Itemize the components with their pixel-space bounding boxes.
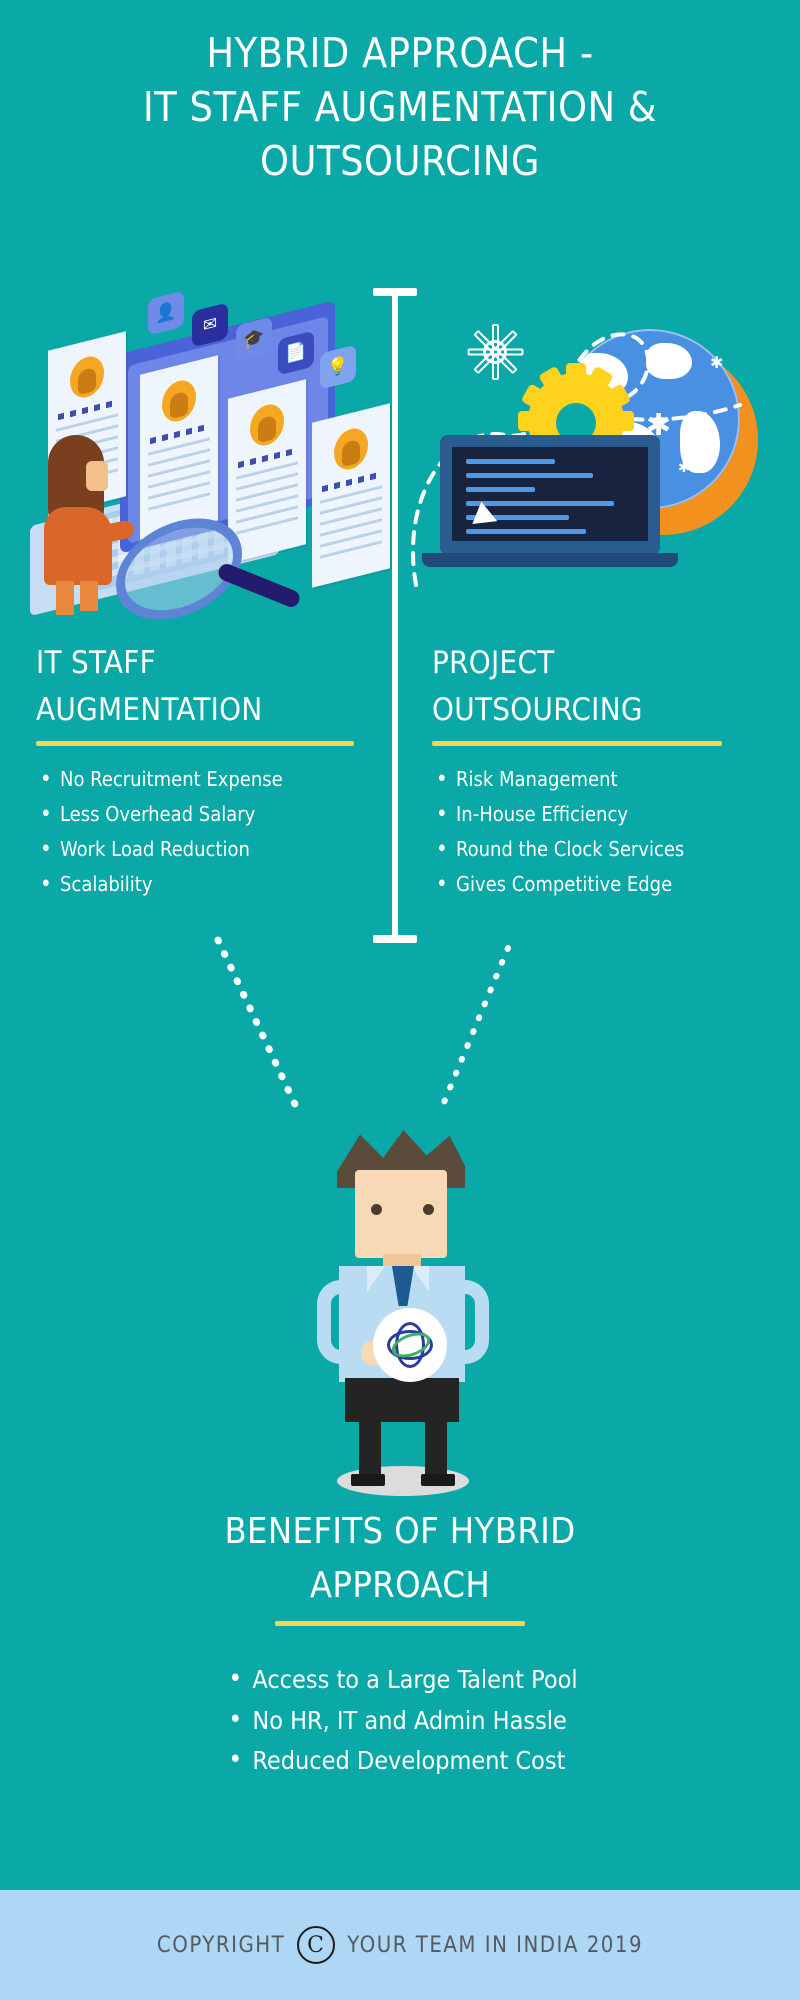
shoe-right	[421, 1474, 455, 1486]
avatar	[250, 401, 284, 449]
column-heading: PROJECT OUTSOURCING	[432, 640, 762, 733]
heading-line-1: IT STAFF	[36, 645, 156, 681]
benefit-list: No Recruitment Expense Less Overhead Sal…	[36, 764, 366, 900]
collar-right	[411, 1266, 429, 1292]
list-item: Round the Clock Services	[432, 834, 762, 865]
page-title: HYBRID APPROACH - IT STAFF AUGMENTATION …	[0, 26, 800, 188]
list-item: Gives Competitive Edge	[432, 869, 762, 900]
footer-copyright-bar: COPYRIGHT C YOUR TEAM IN INDIA 2019	[0, 1890, 800, 2000]
leg	[80, 581, 98, 611]
copyright-icon: C	[297, 1926, 335, 1964]
column-project-outsourcing: PROJECT OUTSOURCING Risk Management In-H…	[432, 640, 762, 904]
text-lines	[148, 437, 210, 512]
heading-line-2: APPROACH	[310, 1565, 490, 1606]
project-outsourcing-illustration: ✱ ✱ ✱	[410, 285, 780, 615]
column-heading: IT STAFF AUGMENTATION	[36, 640, 366, 733]
infographic-page: HYBRID APPROACH - IT STAFF AUGMENTATION …	[0, 0, 800, 2000]
heading-underline	[275, 1621, 525, 1626]
benefit-list: Access to a Large Talent Pool No HR, IT …	[222, 1660, 577, 1782]
recruiter-character	[34, 435, 124, 610]
arm-left	[317, 1280, 351, 1364]
avatar	[70, 353, 104, 401]
lightbulb-icon: 💡	[320, 345, 356, 390]
text-lines	[236, 461, 298, 536]
candidate-card	[140, 355, 218, 539]
list-item: Reduced Development Cost	[222, 1741, 577, 1782]
sparkle-icon: ✱	[678, 461, 690, 475]
column-it-staff-augmentation: IT STAFF AUGMENTATION No Recruitment Exp…	[36, 640, 366, 904]
eye	[423, 1204, 434, 1215]
sparkle-icon: ✱	[710, 355, 723, 371]
avatar	[334, 425, 368, 473]
title-line-3: OUTSOURCING	[0, 134, 800, 188]
leg	[56, 581, 74, 615]
copyright-suffix: YOUR TEAM IN INDIA 2019	[347, 1933, 643, 1958]
title-line-2: IT STAFF AUGMENTATION &	[0, 80, 800, 134]
benefits-heading: BENEFITS OF HYBRID APPROACH	[0, 1505, 800, 1613]
list-item: In-House Efficiency	[432, 799, 762, 830]
list-item: Work Load Reduction	[36, 834, 366, 865]
heading-underline	[432, 741, 722, 746]
laptop-screen	[452, 447, 648, 541]
arm-right	[455, 1280, 489, 1364]
list-item: Less Overhead Salary	[36, 799, 366, 830]
candidate-card	[312, 403, 390, 587]
heading-line-2: AUGMENTATION	[36, 692, 263, 728]
list-item: Scalability	[36, 869, 366, 900]
title-line-1: HYBRID APPROACH -	[0, 26, 800, 80]
collar-left	[367, 1266, 385, 1292]
list-item: Access to a Large Talent Pool	[222, 1660, 577, 1701]
list-item: Risk Management	[432, 764, 762, 795]
copyright-prefix: COPYRIGHT	[157, 1933, 285, 1958]
heading-underline	[36, 741, 354, 746]
user-icon: 👤	[148, 291, 184, 336]
head	[355, 1170, 447, 1258]
list-item: No HR, IT and Admin Hassle	[222, 1701, 577, 1742]
businessman-character	[315, 1130, 495, 1470]
body	[44, 507, 112, 585]
company-logo-badge	[373, 1308, 447, 1382]
shoe-left	[351, 1474, 385, 1486]
heading-line-1: BENEFITS OF HYBRID	[224, 1511, 575, 1552]
face	[86, 461, 108, 491]
heading-line-2: OUTSOURCING	[432, 692, 643, 728]
it-staff-augmentation-illustration: 👤 ✉ 🎓 📄 💡	[20, 285, 380, 615]
heading-line-1: PROJECT	[432, 645, 555, 681]
converging-dotted-lines	[0, 930, 800, 1150]
vertical-divider	[392, 288, 398, 943]
benefit-list: Risk Management In-House Efficiency Roun…	[432, 764, 762, 900]
eye	[371, 1204, 382, 1215]
candidate-card	[228, 379, 306, 563]
benefits-section: BENEFITS OF HYBRID APPROACH Access to a …	[0, 1505, 800, 1782]
laptop-base	[422, 553, 678, 567]
pants	[345, 1378, 459, 1422]
list-item: No Recruitment Expense	[36, 764, 366, 795]
avatar	[162, 377, 196, 425]
text-lines	[320, 485, 382, 560]
laptop-code-icon	[440, 435, 660, 555]
gear-outline-icon	[472, 329, 518, 375]
